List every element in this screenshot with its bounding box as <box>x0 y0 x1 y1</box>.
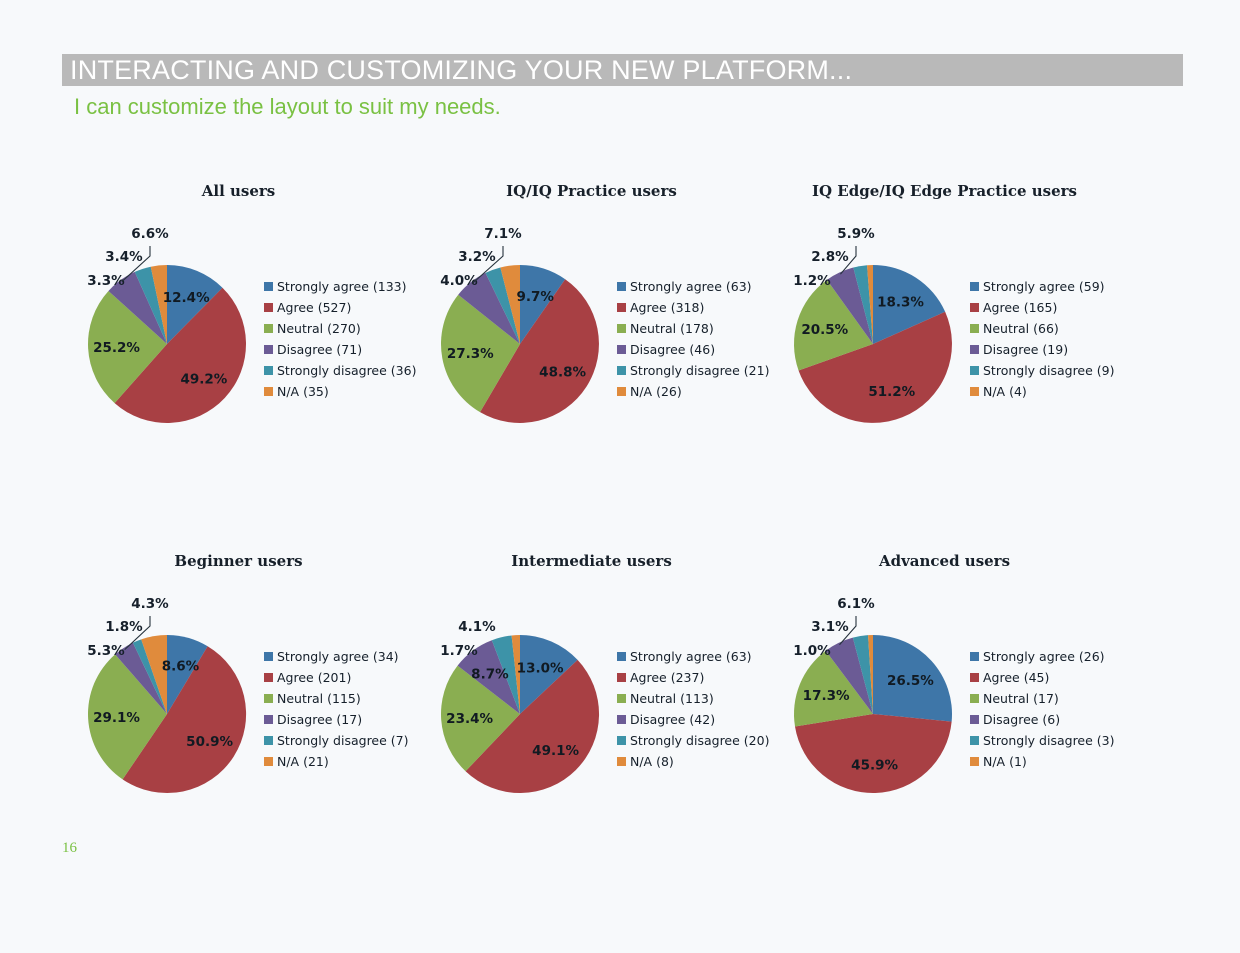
page-title: INTERACTING AND CUSTOMIZING YOUR NEW PLA… <box>62 55 852 86</box>
legend-label: N/A (21) <box>277 754 329 769</box>
legend-swatch-icon <box>264 757 273 766</box>
slide-title-bar: INTERACTING AND CUSTOMIZING YOUR NEW PLA… <box>62 54 1183 86</box>
legend-item[interactable]: Strongly agree (26) <box>970 646 1115 667</box>
legend-swatch-icon <box>970 282 979 291</box>
slice-percent-label: 48.8% <box>539 364 586 380</box>
legend-swatch-icon <box>264 282 273 291</box>
slice-percent-label: 1.2% <box>793 273 831 289</box>
legend-label: Neutral (17) <box>983 691 1059 706</box>
legend-swatch-icon <box>970 303 979 312</box>
slice-percent-label: 3.2% <box>458 249 496 265</box>
slice-percent-label: 1.8% <box>105 619 143 635</box>
legend-swatch-icon <box>264 715 273 724</box>
legend-item[interactable]: Disagree (17) <box>264 709 409 730</box>
pie-chart-1: All users12.4%49.2%25.2%3.3%3.4%6.6%Stro… <box>62 168 415 538</box>
legend-swatch-icon <box>264 324 273 333</box>
legend-swatch-icon <box>264 303 273 312</box>
legend-swatch-icon <box>970 694 979 703</box>
legend-label: N/A (35) <box>277 384 329 399</box>
legend-swatch-icon <box>617 387 626 396</box>
legend-label: Disagree (6) <box>983 712 1060 727</box>
legend-swatch-icon <box>264 366 273 375</box>
legend-item[interactable]: Strongly disagree (20) <box>617 730 769 751</box>
legend-label: Strongly agree (59) <box>983 279 1105 294</box>
legend-item[interactable]: Neutral (270) <box>264 318 416 339</box>
slice-percent-label: 3.1% <box>811 619 849 635</box>
legend-label: N/A (4) <box>983 384 1027 399</box>
legend-swatch-icon <box>617 757 626 766</box>
legend-item[interactable]: Neutral (115) <box>264 688 409 709</box>
slice-percent-label: 7.1% <box>484 226 522 242</box>
legend-swatch-icon <box>264 652 273 661</box>
slice-percent-label: 50.9% <box>186 734 233 750</box>
chart-legend: Strongly agree (133)Agree (527)Neutral (… <box>264 276 416 402</box>
legend-label: Strongly disagree (7) <box>277 733 409 748</box>
slice-percent-label: 12.4% <box>163 290 210 306</box>
legend-item[interactable]: Strongly agree (34) <box>264 646 409 667</box>
legend-swatch-icon <box>970 715 979 724</box>
legend-swatch-icon <box>970 387 979 396</box>
slice-percent-label: 3.4% <box>105 249 143 265</box>
slice-percent-label: 25.2% <box>93 340 140 356</box>
slice-percent-label: 6.6% <box>131 226 169 242</box>
legend-label: N/A (26) <box>630 384 682 399</box>
legend-item[interactable]: Disagree (46) <box>617 339 769 360</box>
legend-swatch-icon <box>617 282 626 291</box>
slice-percent-label: 4.0% <box>440 273 478 289</box>
chart-legend: Strongly agree (34)Agree (201)Neutral (1… <box>264 646 409 772</box>
legend-item[interactable]: Strongly agree (63) <box>617 646 769 667</box>
slice-percent-label: 8.6% <box>162 658 200 674</box>
legend-swatch-icon <box>264 736 273 745</box>
legend-swatch-icon <box>970 736 979 745</box>
legend-item[interactable]: Agree (237) <box>617 667 769 688</box>
legend-label: N/A (1) <box>983 754 1027 769</box>
chart-legend: Strongly agree (63)Agree (318)Neutral (1… <box>617 276 769 402</box>
pie-slice <box>795 714 952 793</box>
legend-item[interactable]: Neutral (66) <box>970 318 1115 339</box>
legend-swatch-icon <box>617 366 626 375</box>
chart-legend: Strongly agree (63)Agree (237)Neutral (1… <box>617 646 769 772</box>
slice-percent-label: 2.8% <box>811 249 849 265</box>
legend-swatch-icon <box>617 652 626 661</box>
chart-grid: All users12.4%49.2%25.2%3.3%3.4%6.6%Stro… <box>62 168 1192 908</box>
pie-chart-2: IQ/IQ Practice users9.7%48.8%27.3%4.0%3.… <box>415 168 768 538</box>
legend-label: Agree (45) <box>983 670 1049 685</box>
legend-item[interactable]: Strongly disagree (9) <box>970 360 1115 381</box>
slice-percent-label: 1.7% <box>440 643 478 659</box>
legend-item[interactable]: Agree (318) <box>617 297 769 318</box>
slice-percent-label: 3.3% <box>87 273 125 289</box>
slice-percent-label: 29.1% <box>93 710 140 726</box>
legend-label: Strongly agree (34) <box>277 649 399 664</box>
slice-percent-label: 49.2% <box>180 372 227 388</box>
slice-percent-label: 49.1% <box>532 743 579 759</box>
legend-label: Disagree (71) <box>277 342 362 357</box>
legend-label: Strongly agree (26) <box>983 649 1105 664</box>
legend-label: Agree (237) <box>630 670 704 685</box>
legend-label: Neutral (66) <box>983 321 1059 336</box>
legend-label: Strongly disagree (21) <box>630 363 769 378</box>
slice-percent-label: 6.1% <box>837 596 875 612</box>
legend-label: Disagree (42) <box>630 712 715 727</box>
legend-swatch-icon <box>617 694 626 703</box>
legend-swatch-icon <box>617 736 626 745</box>
slice-percent-label: 45.9% <box>851 758 898 774</box>
legend-swatch-icon <box>617 715 626 724</box>
legend-item[interactable]: Neutral (113) <box>617 688 769 709</box>
legend-item[interactable]: Neutral (178) <box>617 318 769 339</box>
pie-chart-5: Intermediate users13.0%49.1%23.4%8.7%1.7… <box>415 538 768 908</box>
legend-label: Agree (527) <box>277 300 351 315</box>
legend-item[interactable]: Disagree (42) <box>617 709 769 730</box>
slice-percent-label: 13.0% <box>517 661 564 677</box>
legend-item[interactable]: Strongly disagree (7) <box>264 730 409 751</box>
slice-percent-label: 51.2% <box>868 384 915 400</box>
legend-swatch-icon <box>970 673 979 682</box>
pie-chart-3: IQ Edge/IQ Edge Practice users18.3%51.2%… <box>768 168 1121 538</box>
slice-percent-label: 4.3% <box>131 596 169 612</box>
legend-swatch-icon <box>617 345 626 354</box>
slice-percent-label: 4.1% <box>458 619 496 635</box>
slice-percent-label: 20.5% <box>801 322 848 338</box>
legend-label: Neutral (178) <box>630 321 714 336</box>
chart-legend: Strongly agree (59)Agree (165)Neutral (6… <box>970 276 1115 402</box>
legend-item[interactable]: Disagree (6) <box>970 709 1115 730</box>
legend-label: Neutral (113) <box>630 691 714 706</box>
legend-item[interactable]: Agree (527) <box>264 297 416 318</box>
slice-percent-label: 5.3% <box>87 643 125 659</box>
legend-item[interactable]: Strongly agree (59) <box>970 276 1115 297</box>
legend-label: Strongly disagree (3) <box>983 733 1115 748</box>
legend-swatch-icon <box>264 673 273 682</box>
legend-swatch-icon <box>970 757 979 766</box>
legend-item[interactable]: Disagree (71) <box>264 339 416 360</box>
legend-swatch-icon <box>264 694 273 703</box>
legend-swatch-icon <box>970 366 979 375</box>
legend-label: Disagree (19) <box>983 342 1068 357</box>
chart-legend: Strongly agree (26)Agree (45)Neutral (17… <box>970 646 1115 772</box>
legend-swatch-icon <box>264 345 273 354</box>
legend-label: Agree (318) <box>630 300 704 315</box>
slice-percent-label: 23.4% <box>446 711 493 727</box>
legend-swatch-icon <box>970 324 979 333</box>
legend-item[interactable]: Agree (45) <box>970 667 1115 688</box>
legend-swatch-icon <box>617 303 626 312</box>
legend-label: Agree (201) <box>277 670 351 685</box>
legend-label: Neutral (270) <box>277 321 361 336</box>
legend-label: Strongly disagree (20) <box>630 733 769 748</box>
legend-swatch-icon <box>970 345 979 354</box>
legend-item[interactable]: Strongly disagree (21) <box>617 360 769 381</box>
legend-swatch-icon <box>264 387 273 396</box>
legend-label: Strongly agree (63) <box>630 279 752 294</box>
legend-item[interactable]: Disagree (19) <box>970 339 1115 360</box>
slice-percent-label: 8.7% <box>471 666 509 682</box>
legend-label: Strongly agree (63) <box>630 649 752 664</box>
legend-label: Strongly agree (133) <box>277 279 406 294</box>
legend-item[interactable]: Strongly disagree (3) <box>970 730 1115 751</box>
slice-percent-label: 9.7% <box>516 289 554 305</box>
page-number: 16 <box>62 840 77 857</box>
slide-canvas: INTERACTING AND CUSTOMIZING YOUR NEW PLA… <box>0 0 1240 953</box>
slice-percent-label: 5.9% <box>837 226 875 242</box>
legend-item[interactable]: Agree (165) <box>970 297 1115 318</box>
legend-item[interactable]: N/A (35) <box>264 381 416 402</box>
legend-item[interactable]: N/A (26) <box>617 381 769 402</box>
legend-label: Strongly disagree (9) <box>983 363 1115 378</box>
legend-item[interactable]: N/A (21) <box>264 751 409 772</box>
legend-item[interactable]: N/A (1) <box>970 751 1115 772</box>
slice-percent-label: 17.3% <box>803 688 850 704</box>
pie-chart-4: Beginner users8.6%50.9%29.1%5.3%1.8%4.3%… <box>62 538 415 908</box>
legend-item[interactable]: N/A (8) <box>617 751 769 772</box>
slice-percent-label: 27.3% <box>447 346 494 362</box>
legend-item[interactable]: Strongly disagree (36) <box>264 360 416 381</box>
legend-label: Agree (165) <box>983 300 1057 315</box>
legend-item[interactable]: Strongly agree (63) <box>617 276 769 297</box>
legend-label: Strongly disagree (36) <box>277 363 416 378</box>
legend-label: Neutral (115) <box>277 691 361 706</box>
legend-item[interactable]: N/A (4) <box>970 381 1115 402</box>
legend-item[interactable]: Neutral (17) <box>970 688 1115 709</box>
legend-label: Disagree (17) <box>277 712 362 727</box>
legend-label: N/A (8) <box>630 754 674 769</box>
slice-percent-label: 1.0% <box>793 643 831 659</box>
slice-percent-label: 26.5% <box>887 673 934 689</box>
legend-swatch-icon <box>617 673 626 682</box>
legend-item[interactable]: Agree (201) <box>264 667 409 688</box>
legend-swatch-icon <box>617 324 626 333</box>
legend-swatch-icon <box>970 652 979 661</box>
legend-label: Disagree (46) <box>630 342 715 357</box>
slide-subtitle: I can customize the layout to suit my ne… <box>74 94 501 120</box>
pie-chart-6: Advanced users26.5%45.9%17.3%1.0%3.1%6.1… <box>768 538 1121 908</box>
legend-item[interactable]: Strongly agree (133) <box>264 276 416 297</box>
slice-percent-label: 18.3% <box>877 295 924 311</box>
